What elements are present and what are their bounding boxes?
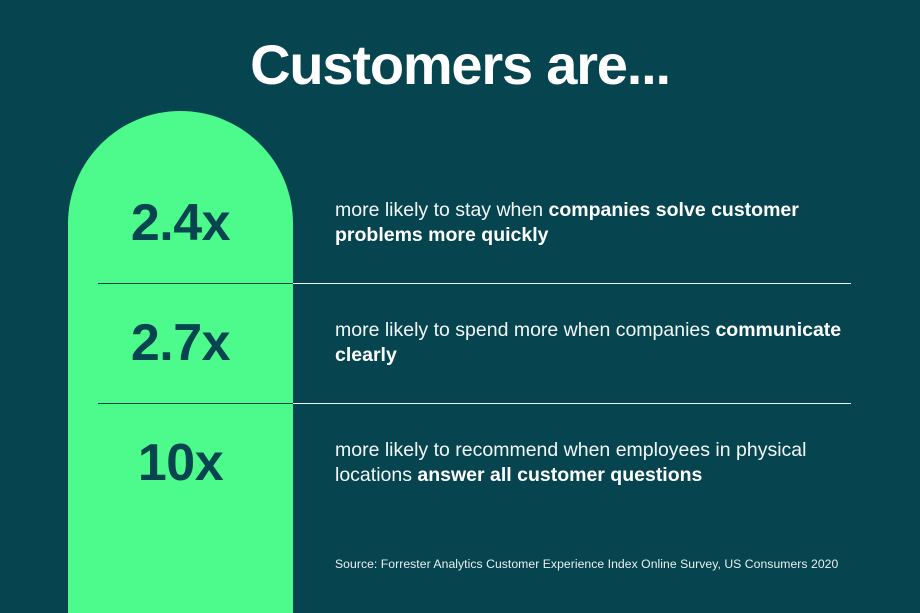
infographic-canvas: Customers are... 2.4x more likely to sta… <box>0 0 920 613</box>
stat-figure: 2.4x <box>68 163 293 283</box>
stat-row: 10x more likely to recommend when employ… <box>0 403 920 523</box>
stat-lead-text: more likely to spend more when companies <box>335 319 715 341</box>
stat-row: 2.7x more likely to spend more when comp… <box>0 283 920 403</box>
source-note: Source: Forrester Analytics Customer Exp… <box>335 557 838 571</box>
stat-row: 2.4x more likely to stay when companies … <box>0 163 920 283</box>
stat-description: more likely to recommend when employees … <box>335 403 865 523</box>
stat-description: more likely to spend more when companies… <box>335 283 865 403</box>
stat-lead-text: more likely to stay when <box>335 199 549 221</box>
stat-figure: 10x <box>68 403 293 523</box>
stat-figure: 2.7x <box>68 283 293 403</box>
stat-emphasis-text: answer all customer questions <box>417 464 702 486</box>
stat-description: more likely to stay when companies solve… <box>335 163 865 283</box>
page-title: Customers are... <box>0 34 920 96</box>
